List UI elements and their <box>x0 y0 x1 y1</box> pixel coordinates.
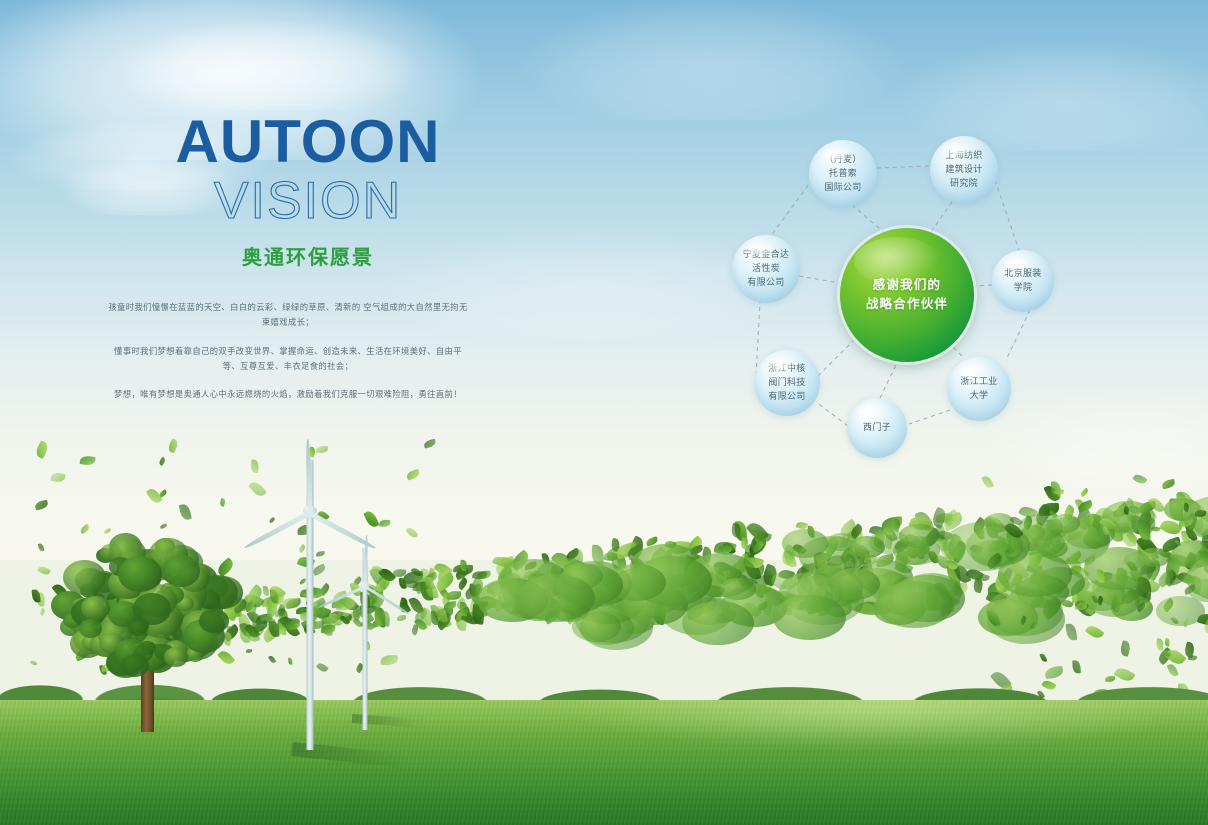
partner-label: （丹麦） 托普索 国际公司 <box>824 153 861 195</box>
leaf <box>405 526 418 539</box>
hub-text-line2: 战略合作伙伴 <box>866 295 948 314</box>
leaf-cluster <box>773 595 846 640</box>
leaf-cluster <box>720 578 756 600</box>
tree-foliage-blob <box>79 619 102 638</box>
partner-label: 上海纺织 建筑设计 研究院 <box>945 149 982 191</box>
partner-label: 浙江中核 阀门科技 有限公司 <box>768 362 805 404</box>
leaf <box>378 520 390 527</box>
leaf <box>444 601 458 611</box>
vision-paragraph: 梦想，唯有梦想是奥通人心中永远燃烧的火焰，激励着我们克服一切艰难险阻，勇往直前！ <box>108 387 468 402</box>
hub-text-line1: 感谢我们的 <box>873 276 942 295</box>
wind-turbine-small <box>330 545 400 730</box>
leaf <box>1085 623 1105 642</box>
leaf <box>50 472 66 483</box>
bubble-gloss <box>858 404 886 420</box>
brand-name-main: AUTOON <box>108 112 508 172</box>
partner-label: 北京服装 学院 <box>1004 267 1041 295</box>
leaf-cluster <box>782 529 828 557</box>
partner-bubble-ningxia-jinheda-carbon[interactable]: 宁夏金合达 活性炭 有限公司 <box>732 235 800 303</box>
partner-bubble-zhejiang-zhonghe-valve[interactable]: 浙江中核 阀门科技 有限公司 <box>754 350 820 416</box>
tree-foliage-blob <box>63 560 106 595</box>
leaf-cluster <box>876 581 953 629</box>
leaf <box>250 459 259 473</box>
tree <box>30 520 260 720</box>
brand-name-sub: VISION <box>108 174 508 229</box>
tree-trunk <box>141 670 154 732</box>
leaf-cluster <box>899 524 939 549</box>
leaf <box>363 510 379 529</box>
leaf-cluster <box>829 568 880 600</box>
partner-bubble-beijing-institute-fashion[interactable]: 北京服装 学院 <box>992 250 1054 312</box>
leaf <box>316 446 329 454</box>
partner-label: 宁夏金合达 活性炭 有限公司 <box>743 248 790 290</box>
leaf <box>1132 472 1148 486</box>
leaf <box>1119 640 1131 657</box>
vision-copy: 孩童时我们憧憬在蓝蓝的天空、白白的云彩、绿绿的草原、清新的 空气组成的大自然里无… <box>108 300 468 403</box>
leaf <box>1161 479 1176 490</box>
tree-foliage-blob <box>199 609 229 633</box>
leaf <box>157 456 166 466</box>
leaf <box>167 439 180 454</box>
leaf <box>1066 623 1078 641</box>
leaf <box>981 474 994 489</box>
leaf <box>146 487 163 506</box>
tree-foliage-blob <box>162 555 200 586</box>
brand-name-chinese: 奥通环保愿景 <box>108 241 508 270</box>
leaf <box>220 498 227 507</box>
leaf <box>34 441 50 460</box>
leaf <box>410 625 419 636</box>
headline-block: AUTOON VISION 奥通环保愿景 <box>108 112 508 270</box>
leaf <box>423 439 436 449</box>
leaf-cluster <box>561 563 603 589</box>
tree-foliage-blob <box>118 556 162 592</box>
leaf <box>1040 653 1048 663</box>
vision-paragraph: 懂事时我们梦想着靠自己的双手改变世界、掌握命运、创造未来、生活在环境美好、自由平… <box>108 344 468 375</box>
partner-bubble-denmark-topsoe[interactable]: （丹麦） 托普索 国际公司 <box>809 140 877 208</box>
partner-bubble-shanghai-textile-institute[interactable]: 上海纺织 建筑设计 研究院 <box>930 136 998 204</box>
partner-bubble-zhejiang-university-technology[interactable]: 浙江工业 大学 <box>947 357 1011 421</box>
leaf <box>80 455 96 466</box>
leaf <box>178 503 191 521</box>
leaf <box>406 469 420 480</box>
poster-canvas: AUTOON VISION 奥通环保愿景 孩童时我们憧憬在蓝蓝的天空、白白的云彩… <box>0 0 1208 825</box>
leaf-cluster <box>849 536 885 558</box>
leaf <box>1155 638 1163 650</box>
grass-highlight <box>560 700 1200 750</box>
leaf <box>1080 488 1090 497</box>
partner-label: 浙江工业 大学 <box>960 375 997 403</box>
tree-foliage-blob <box>164 647 188 667</box>
hub-circle: 感谢我们的 战略合作伙伴 <box>840 228 974 362</box>
leaf <box>34 500 48 510</box>
vision-paragraph: 孩童时我们憧憬在蓝蓝的天空、白白的云彩、绿绿的草原、清新的 空气组成的大自然里无… <box>108 300 468 331</box>
tree-foliage-blob <box>133 593 171 624</box>
leaf-cluster <box>682 601 754 645</box>
leaf <box>447 590 461 599</box>
